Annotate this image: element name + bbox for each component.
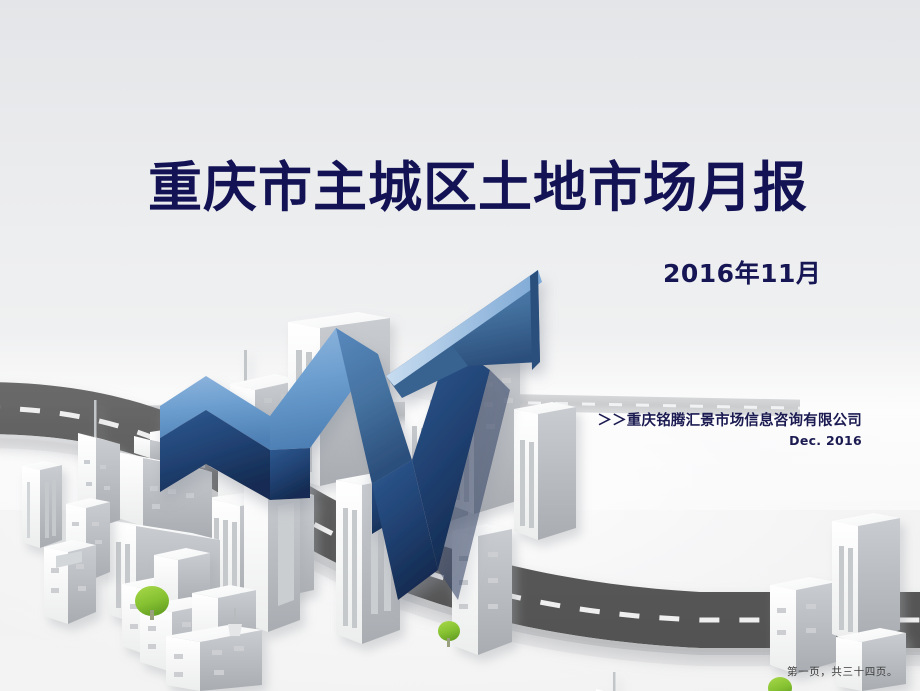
report-period-subtitle: 2016年11月 <box>663 254 821 290</box>
arrow-segment-2-side <box>270 448 310 500</box>
building-far-right-low <box>836 628 906 691</box>
presentation-slide: 重庆市主城区土地市场月报 2016年11月 ＞＞重庆铭腾汇景市场信息咨询有限公司… <box>0 0 920 691</box>
building-detached-left-c <box>44 540 96 624</box>
company-date: Dec. 2016 <box>442 433 862 448</box>
company-name: ＞＞重庆铭腾汇景市场信息咨询有限公司 <box>442 412 862 432</box>
arrow-segment-4 <box>372 460 438 600</box>
curved-highway-illustration <box>0 330 920 691</box>
tree-icon <box>438 621 460 647</box>
arrow-shaft <box>412 342 490 570</box>
page-title: 重庆市主城区土地市场月报 <box>148 158 808 218</box>
building-tower-spire <box>206 350 314 606</box>
building-detached-left-a <box>22 461 62 548</box>
arrow-head <box>386 270 540 376</box>
building-far-right-small <box>770 577 836 674</box>
building-lowrise-bottom <box>166 625 262 691</box>
background-road-right-dashes <box>420 399 800 409</box>
building-front-slab <box>244 480 300 632</box>
ground-glow <box>0 430 920 691</box>
building-foreground-tower <box>336 473 400 644</box>
building-block-tower <box>288 312 390 486</box>
building-detached-left-b <box>66 498 110 582</box>
building-far-right-slab <box>832 513 900 644</box>
building-pyramid-tower <box>108 398 220 624</box>
slide-page-footer: 第一页，共三十四页。 <box>787 664 898 679</box>
building-cluster-left-front <box>122 548 210 656</box>
arrow-head-notch <box>386 342 468 398</box>
building-near-highway <box>452 524 512 655</box>
antenna-mast-icon <box>228 608 242 636</box>
city-skyline-illustration <box>0 290 920 691</box>
tree-icon <box>135 586 169 620</box>
building-far-right-tower <box>582 672 654 691</box>
arrow-head-side <box>530 270 540 370</box>
arrow-segment-2 <box>270 328 378 450</box>
arrow-segment-3-side <box>372 460 412 534</box>
arrow-head-highlight <box>386 270 542 386</box>
building-lowrise-centre <box>140 585 256 672</box>
highway-ground-shadow <box>0 438 920 666</box>
company-credit-block: ＞＞重庆铭腾汇景市场信息咨询有限公司 Dec. 2016 <box>442 412 862 448</box>
tree-icon <box>768 677 792 691</box>
